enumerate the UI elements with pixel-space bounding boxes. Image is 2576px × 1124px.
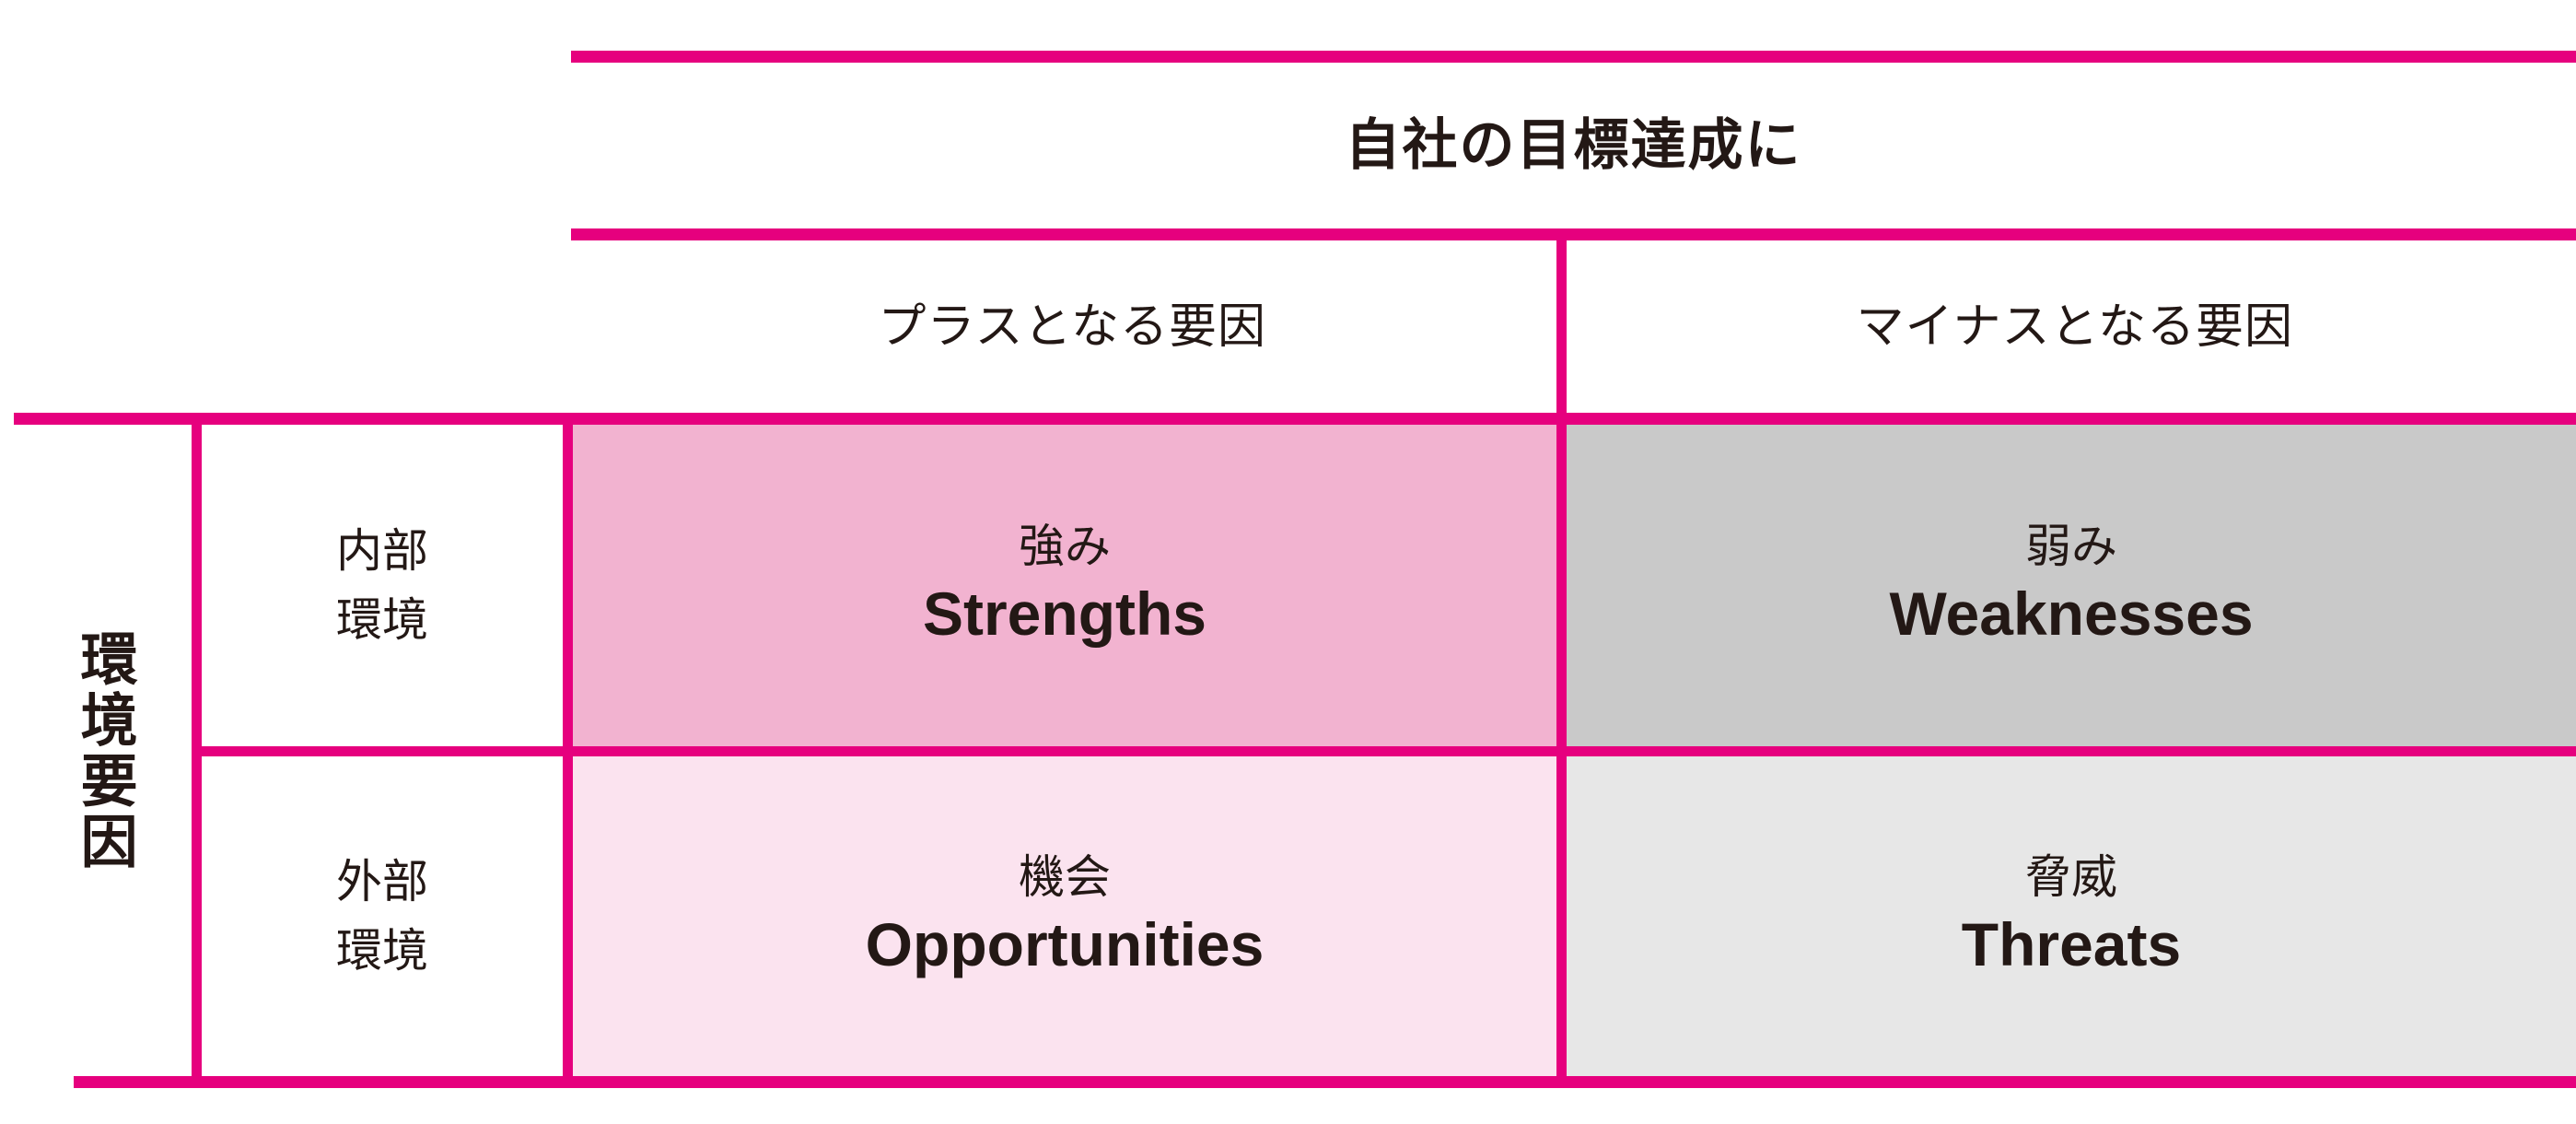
matrix-title-band: 自社の目標達成に — [571, 63, 2576, 228]
matrix-horizontal-rule-middle — [192, 746, 2576, 756]
quadrant-weaknesses-jp: 弱み — [2025, 521, 2117, 574]
matrix-title: 自社の目標達成に — [1346, 118, 1802, 173]
row-label-external-line2: 環境 — [336, 917, 428, 986]
quadrant-opportunities-en: Opportunities — [866, 908, 1265, 981]
column-header-divider — [1556, 228, 1567, 415]
swot-matrix-diagram: 自社の目標達成に プラスとなる要因 マイナスとなる要因 環境要因 内部 環境 外… — [0, 0, 2576, 1124]
quadrant-threats-jp: 脅威 — [2025, 851, 2117, 905]
row-label-internal: 内部 環境 — [202, 425, 563, 746]
matrix-top-rule — [14, 413, 2576, 425]
row-label-external: 外部 環境 — [202, 756, 563, 1076]
quadrant-strengths-jp: 強み — [1019, 521, 1111, 574]
matrix-bottom-rule — [74, 1076, 2576, 1088]
quadrant-opportunities-jp: 機会 — [1019, 851, 1111, 905]
quadrant-strengths-en: Strengths — [923, 578, 1206, 650]
matrix-vertical-rule-center — [1556, 415, 1567, 1076]
quadrant-opportunities: 機会 Opportunities — [573, 756, 1556, 1076]
row-label-internal-line1: 内部 — [336, 517, 428, 586]
title-bottom-rule — [571, 228, 2576, 240]
column-header-positive: プラスとなる要因 — [571, 240, 1574, 413]
column-header-row: プラスとなる要因 マイナスとなる要因 — [571, 240, 2576, 413]
quadrant-weaknesses-en: Weaknesses — [1889, 578, 2253, 650]
row-label-external-line1: 外部 — [336, 848, 428, 917]
row-label-internal-line2: 環境 — [336, 586, 428, 655]
quadrant-threats: 脅威 Threats — [1567, 756, 2576, 1076]
quadrant-strengths: 強み Strengths — [573, 425, 1556, 746]
axis-label-text: 環境要因 — [74, 629, 132, 872]
quadrant-threats-en: Threats — [1962, 908, 2181, 981]
quadrant-weaknesses: 弱み Weaknesses — [1567, 425, 2576, 746]
top-divider-rule — [571, 51, 2576, 63]
axis-label-cell: 環境要因 — [14, 415, 192, 1087]
column-header-negative: マイナスとなる要因 — [1574, 240, 2576, 413]
